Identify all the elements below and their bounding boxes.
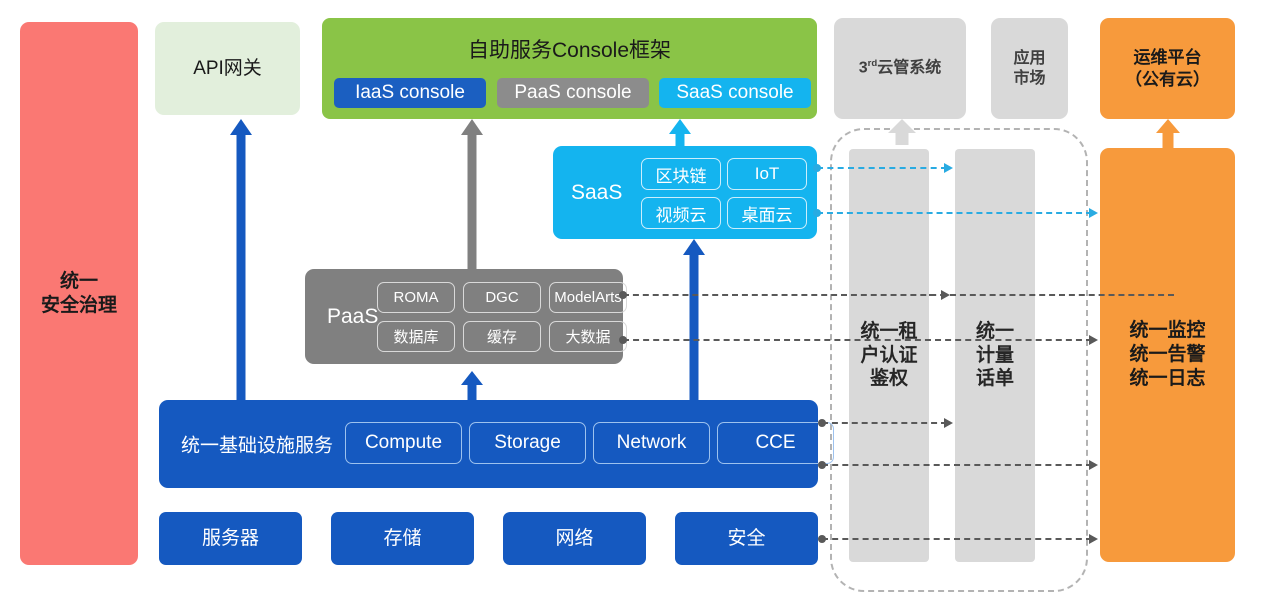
resource-box-storage[interactable]: 存储 bbox=[331, 512, 474, 565]
chip-iaas-console[interactable]: IaaS console bbox=[334, 78, 486, 108]
security-governance-label: 统一 安全治理 bbox=[41, 270, 117, 318]
dashed-saas-to-monitoring-head bbox=[1089, 208, 1098, 218]
infra-item-cce-label: CCE bbox=[755, 432, 795, 454]
security-governance-panel: 统一 安全治理 bbox=[20, 22, 138, 565]
resource-box-server-label: 服务器 bbox=[202, 527, 259, 551]
chip-paas-console[interactable]: PaaS console bbox=[497, 78, 649, 108]
dashed-paas-to-auth bbox=[623, 294, 1174, 296]
saas-item-desktop-cloud-label: 桌面云 bbox=[742, 201, 793, 226]
infra-item-compute[interactable]: Compute bbox=[345, 422, 462, 464]
resource-box-storage-label: 存储 bbox=[383, 527, 421, 551]
paas-item-dgc-label: DGC bbox=[485, 289, 518, 306]
paas-item-modelarts[interactable]: ModelArts bbox=[549, 282, 627, 313]
console-framework-title: 自助服务Console框架 bbox=[322, 34, 817, 64]
app-market-box: 应用 市场 bbox=[991, 18, 1068, 119]
unified-billing-label: 统一 计量 话单 bbox=[976, 320, 1014, 391]
app-market-label: 应用 市场 bbox=[1013, 49, 1045, 89]
resource-box-security-label: 安全 bbox=[727, 527, 765, 551]
dashed-infra-to-monitoring-head bbox=[1089, 460, 1098, 470]
paas-item-bigdata-label: 大数据 bbox=[565, 326, 610, 347]
paas-item-dgc[interactable]: DGC bbox=[463, 282, 541, 313]
saas-block: SaaS 区块链 IoT 视频云 桌面云 bbox=[553, 146, 817, 239]
arrow-infra-to-api-gateway bbox=[228, 119, 254, 400]
arrow-saas-to-console bbox=[667, 119, 693, 146]
dashed-saas-to-monitoring-dot bbox=[813, 209, 821, 217]
api-gateway-box: API网关 bbox=[155, 22, 300, 115]
infra-item-storage[interactable]: Storage bbox=[469, 422, 586, 464]
unified-infrastructure-bar: 统一基础设施服务 Compute Storage Network CCE bbox=[159, 400, 818, 488]
infra-item-cce[interactable]: CCE bbox=[717, 422, 834, 464]
paas-block: PaaS ROMA DGC ModelArts 数据库 缓存 大数据 bbox=[305, 269, 623, 364]
infra-item-storage-label: Storage bbox=[494, 432, 561, 454]
dashed-paas-to-monitoring bbox=[623, 339, 1092, 341]
infra-item-network-label: Network bbox=[617, 432, 687, 454]
saas-item-iot[interactable]: IoT bbox=[727, 158, 807, 190]
monitoring-panel: 统一监控 统一告警 统一日志 bbox=[1100, 148, 1235, 562]
dashed-saas-to-auth bbox=[817, 167, 947, 169]
paas-item-modelarts-label: ModelArts bbox=[554, 289, 622, 306]
dashed-infra-to-auth-head bbox=[944, 418, 953, 428]
paas-item-roma[interactable]: ROMA bbox=[377, 282, 455, 313]
architecture-diagram: 统一 安全治理 API网关 自助服务Console框架 IaaS console… bbox=[0, 0, 1265, 605]
dashed-infra-to-monitoring bbox=[822, 464, 1092, 466]
ops-platform-box: 运维平台 （公有云） bbox=[1100, 18, 1235, 119]
paas-item-bigdata[interactable]: 大数据 bbox=[549, 321, 627, 352]
dashed-saas-to-auth-head bbox=[944, 163, 953, 173]
paas-item-cache-label: 缓存 bbox=[487, 326, 517, 347]
resource-box-server[interactable]: 服务器 bbox=[159, 512, 302, 565]
infra-item-compute-label: Compute bbox=[365, 432, 442, 454]
paas-label: PaaS bbox=[327, 305, 378, 329]
arrow-infra-to-paas bbox=[459, 371, 485, 400]
arrow-monitoring-to-ops-platform bbox=[1155, 119, 1181, 148]
arrow-infra-to-saas bbox=[681, 239, 707, 400]
dashed-paas-to-auth-dot bbox=[619, 291, 627, 299]
chip-saas-label: SaaS console bbox=[676, 82, 793, 104]
infra-item-network[interactable]: Network bbox=[593, 422, 710, 464]
dashed-paas-to-monitoring-dot bbox=[619, 336, 627, 344]
dashed-security-to-monitoring-dot bbox=[818, 535, 826, 543]
dashed-infra-to-monitoring-dot bbox=[818, 461, 826, 469]
arrow-shared-to-third-party bbox=[887, 119, 917, 145]
paas-item-roma-label: ROMA bbox=[394, 289, 439, 306]
dashed-saas-to-auth-dot bbox=[813, 164, 821, 172]
unified-tenant-auth-label: 统一租 户认证 鉴权 bbox=[860, 320, 917, 391]
paas-item-cache[interactable]: 缓存 bbox=[463, 321, 541, 352]
api-gateway-label: API网关 bbox=[193, 57, 262, 81]
dashed-saas-to-monitoring bbox=[817, 212, 1092, 214]
chip-paas-label: PaaS console bbox=[514, 82, 631, 104]
paas-item-database[interactable]: 数据库 bbox=[377, 321, 455, 352]
unified-infrastructure-label: 统一基础设施服务 bbox=[181, 431, 333, 458]
dashed-paas-to-monitoring-head bbox=[1089, 335, 1098, 345]
saas-item-blockchain[interactable]: 区块链 bbox=[641, 158, 721, 190]
chip-saas-console[interactable]: SaaS console bbox=[659, 78, 811, 108]
saas-item-video-cloud[interactable]: 视频云 bbox=[641, 197, 721, 229]
saas-label: SaaS bbox=[571, 181, 622, 205]
saas-item-desktop-cloud[interactable]: 桌面云 bbox=[727, 197, 807, 229]
resource-box-security[interactable]: 安全 bbox=[675, 512, 818, 565]
monitoring-label: 统一监控 统一告警 统一日志 bbox=[1129, 319, 1205, 390]
third-party-cloud-mgmt-label: 3rd云管系统 bbox=[859, 58, 942, 78]
ops-platform-label: 运维平台 （公有云） bbox=[1125, 47, 1210, 90]
saas-item-video-cloud-label: 视频云 bbox=[656, 201, 707, 226]
third-party-cloud-mgmt-box: 3rd云管系统 bbox=[834, 18, 966, 119]
dashed-auth-to-billing bbox=[929, 294, 947, 296]
chip-iaas-label: IaaS console bbox=[355, 82, 465, 104]
paas-item-database-label: 数据库 bbox=[393, 326, 438, 347]
resource-box-network[interactable]: 网络 bbox=[503, 512, 646, 565]
saas-item-blockchain-label: 区块链 bbox=[656, 162, 707, 187]
dashed-security-to-monitoring-head bbox=[1089, 534, 1098, 544]
dashed-security-to-monitoring bbox=[822, 538, 1092, 540]
dashed-infra-to-auth-dot bbox=[818, 419, 826, 427]
dashed-infra-to-auth bbox=[822, 422, 947, 424]
resource-box-network-label: 网络 bbox=[555, 527, 593, 551]
arrow-paas-to-console bbox=[459, 119, 485, 269]
saas-item-iot-label: IoT bbox=[755, 164, 780, 184]
unified-billing-column: 统一 计量 话单 bbox=[955, 149, 1035, 562]
console-framework-panel: 自助服务Console框架 IaaS console PaaS console … bbox=[322, 18, 817, 119]
unified-tenant-auth-column: 统一租 户认证 鉴权 bbox=[849, 149, 929, 562]
